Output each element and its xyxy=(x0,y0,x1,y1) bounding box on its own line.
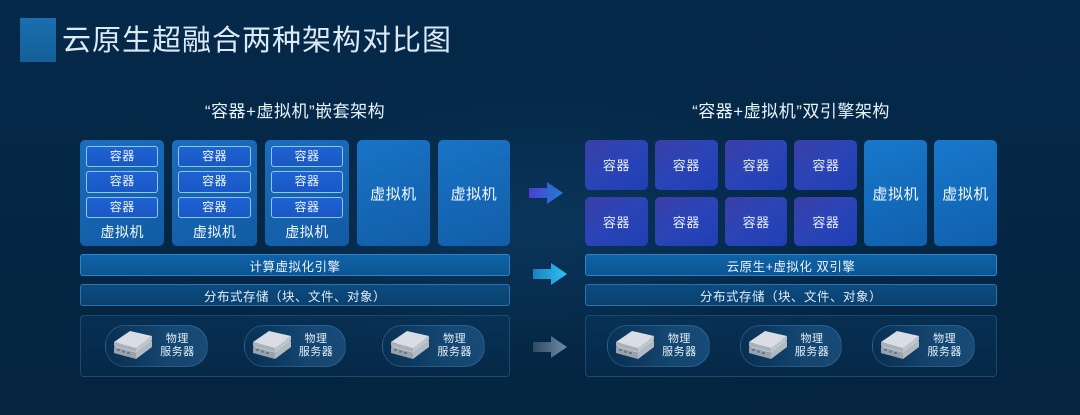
container-box[interactable]: 容器 xyxy=(725,197,788,247)
left-storage-bar[interactable]: 分布式存储（块、文件、对象） xyxy=(80,284,510,306)
container-column: 容器 容器 xyxy=(794,140,857,246)
vm-box[interactable]: 虚拟机 xyxy=(357,140,429,246)
container-box[interactable]: 容器 xyxy=(86,171,158,192)
left-compute-row: 容器 容器 容器 虚拟机 容器 容器 容器 虚拟机 容器 容器 容器 虚拟机 虚… xyxy=(80,140,510,246)
right-engine-bar[interactable]: 云原生+虚拟化 双引擎 xyxy=(585,254,997,276)
physical-server-pill[interactable]: 物理 服务器 xyxy=(872,325,975,367)
physical-server-label: 物理 服务器 xyxy=(437,333,472,359)
arrow-compute-icon xyxy=(529,182,563,204)
physical-server-label: 物理 服务器 xyxy=(160,333,195,359)
panel-right-title: “容器+虚拟机”双引擎架构 xyxy=(585,100,997,124)
server-icon xyxy=(877,329,923,363)
server-icon xyxy=(612,329,658,363)
container-box[interactable]: 容器 xyxy=(655,140,718,190)
vm-box[interactable]: 虚拟机 xyxy=(438,140,510,246)
physical-server-label: 物理 服务器 xyxy=(795,333,830,359)
panel-nested-architecture: “容器+虚拟机”嵌套架构 容器 容器 容器 虚拟机 容器 容器 容器 虚拟机 容… xyxy=(80,100,510,377)
vm-stack-label: 虚拟机 xyxy=(178,222,250,246)
vm-box[interactable]: 虚拟机 xyxy=(864,140,927,246)
container-box[interactable]: 容器 xyxy=(271,197,343,218)
container-box[interactable]: 容器 xyxy=(178,197,250,218)
server-icon xyxy=(387,329,433,363)
container-box[interactable]: 容器 xyxy=(86,197,158,218)
physical-server-pill[interactable]: 物理 服务器 xyxy=(105,325,208,367)
container-column: 容器 容器 xyxy=(725,140,788,246)
panel-dual-engine-architecture: “容器+虚拟机”双引擎架构 容器 容器 容器 容器 容器 容器 容器 容器 虚拟… xyxy=(585,100,997,377)
container-box[interactable]: 容器 xyxy=(271,171,343,192)
page-header: 云原生超融合两种架构对比图 xyxy=(0,0,1080,86)
vm-stack[interactable]: 容器 容器 容器 虚拟机 xyxy=(265,140,349,246)
container-box[interactable]: 容器 xyxy=(86,146,158,167)
arrow-engine-icon xyxy=(533,263,567,285)
container-box[interactable]: 容器 xyxy=(655,197,718,247)
container-box[interactable]: 容器 xyxy=(585,197,648,247)
physical-server-label: 物理 服务器 xyxy=(927,333,962,359)
right-storage-bar[interactable]: 分布式存储（块、文件、对象） xyxy=(585,284,997,306)
title-accent-square xyxy=(20,18,56,62)
container-box[interactable]: 容器 xyxy=(794,140,857,190)
vm-stack-label: 虚拟机 xyxy=(86,222,158,246)
vm-stack[interactable]: 容器 容器 容器 虚拟机 xyxy=(80,140,164,246)
container-box[interactable]: 容器 xyxy=(585,140,648,190)
left-engine-bar[interactable]: 计算虚拟化引擎 xyxy=(80,254,510,276)
container-box[interactable]: 容器 xyxy=(178,171,250,192)
arrow-hardware-icon xyxy=(533,336,567,358)
server-icon xyxy=(110,329,156,363)
vm-stack-label: 虚拟机 xyxy=(271,222,343,246)
right-compute-grid: 容器 容器 容器 容器 容器 容器 容器 容器 虚拟机 虚拟机 xyxy=(585,140,997,246)
physical-server-pill[interactable]: 物理 服务器 xyxy=(607,325,710,367)
container-column: 容器 容器 xyxy=(655,140,718,246)
physical-server-label: 物理 服务器 xyxy=(662,333,697,359)
panel-left-title: “容器+虚拟机”嵌套架构 xyxy=(80,100,510,124)
container-column: 容器 容器 xyxy=(585,140,648,246)
container-box[interactable]: 容器 xyxy=(794,197,857,247)
vm-box[interactable]: 虚拟机 xyxy=(934,140,997,246)
physical-server-label: 物理 服务器 xyxy=(299,333,334,359)
right-hardware-tray: 物理 服务器 物理 服务器 xyxy=(585,315,997,377)
container-box[interactable]: 容器 xyxy=(178,146,250,167)
vm-stack[interactable]: 容器 容器 容器 虚拟机 xyxy=(172,140,256,246)
server-icon xyxy=(745,329,791,363)
page-title: 云原生超融合两种架构对比图 xyxy=(62,20,452,62)
physical-server-pill[interactable]: 物理 服务器 xyxy=(244,325,347,367)
left-hardware-tray: 物理 服务器 物理 服务器 xyxy=(80,315,510,377)
container-box[interactable]: 容器 xyxy=(725,140,788,190)
container-box[interactable]: 容器 xyxy=(271,146,343,167)
server-icon xyxy=(249,329,295,363)
physical-server-pill[interactable]: 物理 服务器 xyxy=(382,325,485,367)
physical-server-pill[interactable]: 物理 服务器 xyxy=(740,325,843,367)
